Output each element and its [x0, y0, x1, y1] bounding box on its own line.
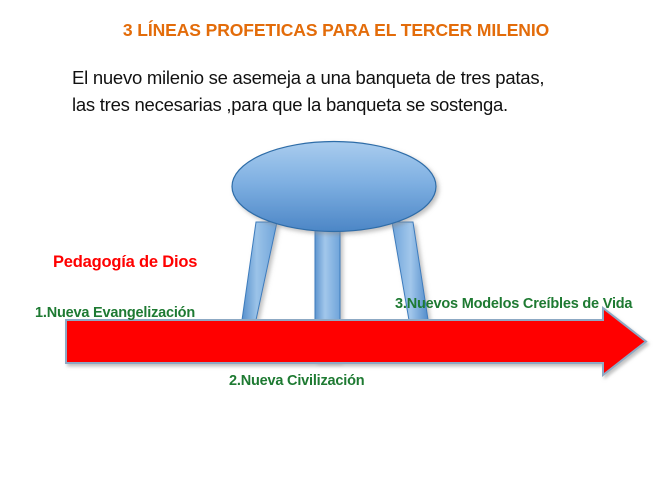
slide-canvas: 3 LÍNEAS PROFETICAS PARA EL TERCER MILEN… — [0, 0, 672, 502]
label-leg-2-nueva-civilizacion: 2.Nueva Civilización — [229, 373, 364, 389]
label-pedagogia-de-dios: Pedagogía de Dios — [53, 253, 197, 272]
stool-leg-left — [240, 222, 277, 334]
label-leg-1-nueva-evangelizacion: 1.Nueva Evangelización — [35, 305, 195, 321]
stool-seat — [232, 142, 436, 232]
label-leg-3-nuevos-modelos-creibles-de-vida: 3.Nuevos Modelos Creíbles de Vida — [395, 296, 632, 312]
stool-diagram-graphic — [0, 0, 672, 502]
